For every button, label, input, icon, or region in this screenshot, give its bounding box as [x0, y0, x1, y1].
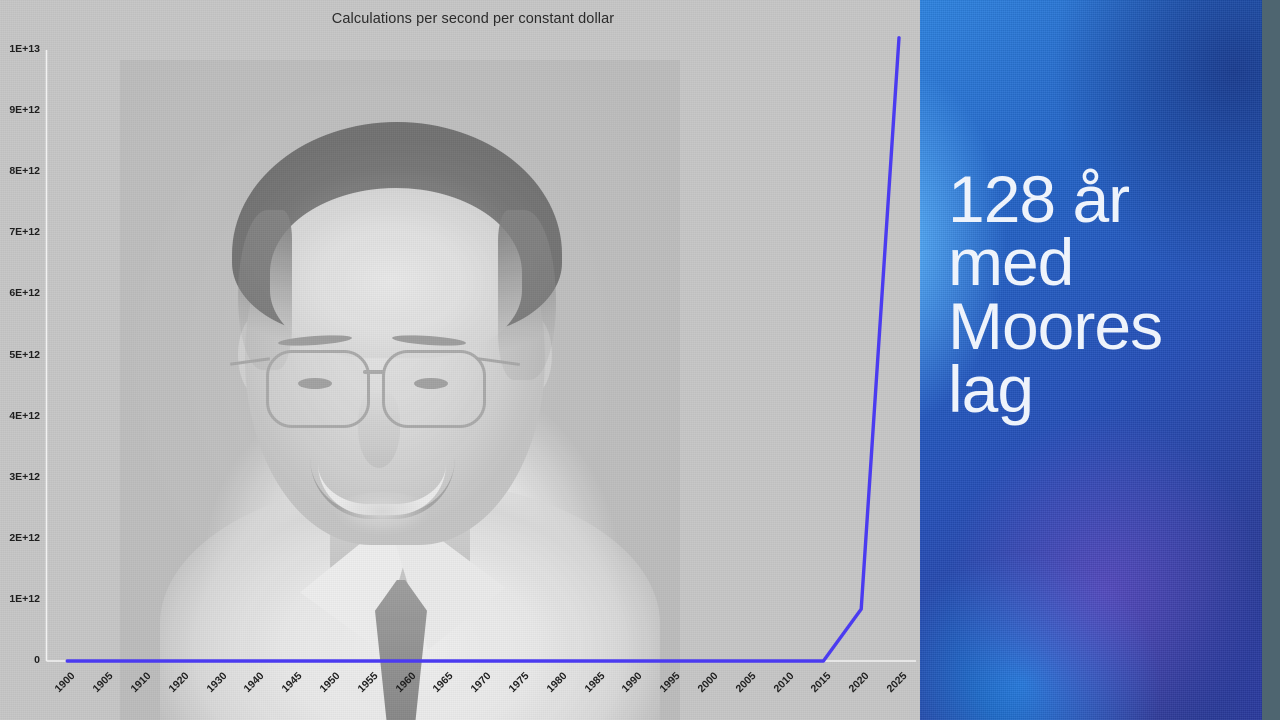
- y-axis-tick-label: 6E+12: [0, 287, 40, 299]
- slide-headline: 128 år med Moores lag: [948, 168, 1248, 421]
- y-axis-tick-label: 1E+13: [0, 43, 40, 55]
- y-axis-tick-label: 5E+12: [0, 349, 40, 361]
- title-panel: 128 år med Moores lag: [920, 0, 1262, 720]
- y-axis-tick-label: 0: [0, 654, 40, 666]
- chart-axes: [47, 50, 917, 661]
- y-axis-tick-label: 8E+12: [0, 165, 40, 177]
- series-calculations-per-second: [67, 38, 899, 661]
- y-axis-tick-label: 3E+12: [0, 471, 40, 483]
- slide-root: Calculations per second per constant dol…: [0, 0, 1280, 720]
- y-axis-tick-label: 7E+12: [0, 226, 40, 238]
- y-axis-tick-label: 9E+12: [0, 104, 40, 116]
- y-axis-tick-label: 1E+12: [0, 593, 40, 605]
- right-edge-strip: [1262, 0, 1280, 720]
- y-axis-tick-label: 2E+12: [0, 532, 40, 544]
- chart-panel: Calculations per second per constant dol…: [0, 0, 920, 720]
- chart-plot: [0, 0, 920, 720]
- y-axis-tick-label: 4E+12: [0, 410, 40, 422]
